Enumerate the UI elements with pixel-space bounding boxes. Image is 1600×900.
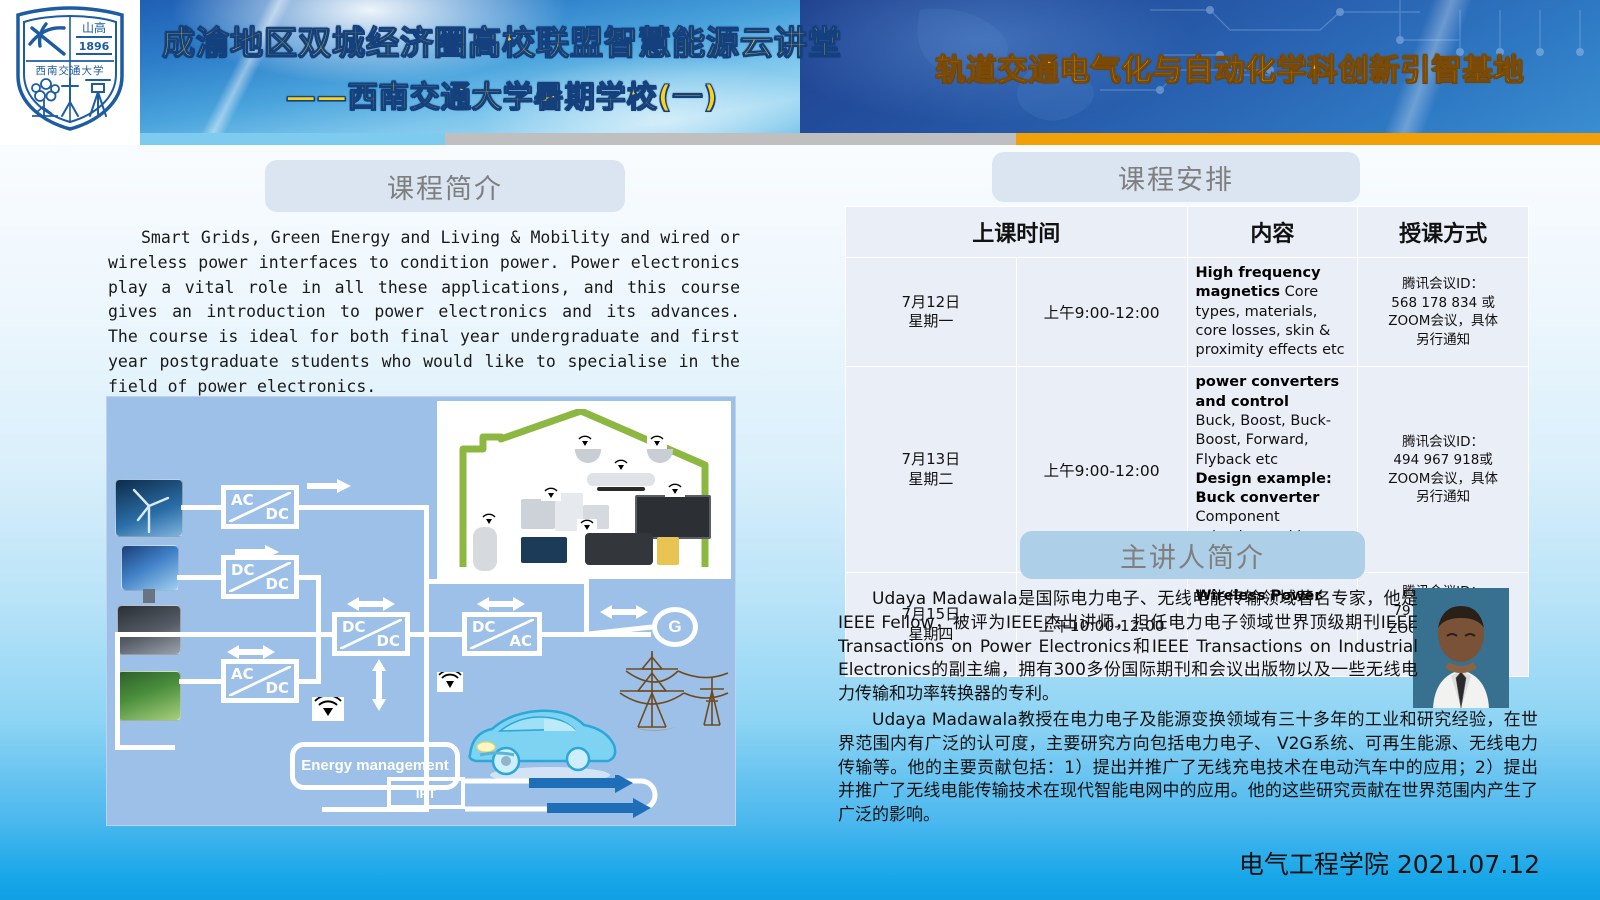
svg-text:西南交通大学: 西南交通大学 bbox=[36, 64, 105, 77]
flow-arrow-vertical-icon bbox=[372, 659, 386, 711]
strip-segment-blue bbox=[140, 133, 445, 145]
column-header-mode: 授课方式 bbox=[1358, 207, 1529, 258]
table-row: 7月12日 星期一 上午9:00-12:00 High frequency ma… bbox=[846, 258, 1529, 367]
converter-block-dc-dc-2: DC DC bbox=[332, 612, 410, 656]
appliance-monitor bbox=[521, 537, 567, 563]
wire-segment bbox=[179, 679, 223, 684]
cell-date: 7月12日 星期一 bbox=[846, 258, 1017, 367]
poster-footer: 电气工程学院 2021.07.12 bbox=[840, 845, 1540, 881]
source-battery-image bbox=[117, 605, 181, 655]
wire-segment bbox=[257, 632, 332, 637]
poster-header: 山高 1896 西南交通大学 成渝地区双城经 bbox=[0, 0, 1600, 133]
cell-date-weekday: 星期二 bbox=[854, 470, 1008, 490]
wire-segment bbox=[424, 505, 429, 635]
wind-turbine-icon bbox=[116, 480, 182, 536]
header-title-main: 成渝地区双城经济圈高校联盟智慧能源云讲堂 bbox=[142, 26, 862, 61]
table-header-row: 上课时间 内容 授课方式 bbox=[846, 207, 1529, 258]
smart-home-panel bbox=[437, 401, 731, 579]
wire-segment bbox=[177, 575, 223, 580]
converter-block-dc-ac: DC AC bbox=[462, 612, 542, 656]
wire-segment bbox=[407, 632, 467, 637]
wire-segment bbox=[424, 579, 589, 584]
converter-label-bottom: DC bbox=[266, 505, 289, 523]
speaker-bio-paragraph-1: Udaya Madawala是国际电力电子、无线电能传输领域著名专家，他是IEE… bbox=[838, 588, 1418, 707]
converter-label-bottom: DC bbox=[377, 632, 400, 650]
ipt-power-transfer-arrows-icon bbox=[465, 775, 665, 821]
appliance-washer bbox=[521, 499, 555, 529]
wire-segment bbox=[115, 632, 260, 637]
source-generator-image bbox=[117, 671, 181, 721]
converter-label-bottom: DC bbox=[266, 679, 289, 697]
wifi-icon bbox=[665, 483, 685, 497]
wifi-icon bbox=[575, 435, 595, 449]
flow-arrow-bidirectional-icon bbox=[477, 597, 525, 611]
wifi-icon bbox=[647, 435, 667, 449]
wire-segment bbox=[115, 632, 120, 750]
wire-segment bbox=[541, 632, 651, 637]
svg-text:山高: 山高 bbox=[82, 20, 106, 35]
flow-arrow-bidirectional-icon bbox=[600, 605, 648, 619]
converter-block-dc-dc-1: DC DC bbox=[221, 555, 299, 599]
cell-time: 上午9:00-12:00 bbox=[1016, 258, 1187, 367]
cell-date: 7月13日 星期二 bbox=[846, 367, 1017, 573]
section-heading-speaker: 主讲人简介 bbox=[1020, 531, 1365, 579]
column-header-content: 内容 bbox=[1187, 207, 1358, 258]
cell-topic: High frequency magnetics Core types, mat… bbox=[1187, 258, 1358, 367]
cell-mode: 腾讯会议ID： 568 178 834 或 ZOOM会议，具体 另行通知 bbox=[1358, 258, 1529, 367]
source-wind-turbine-image bbox=[115, 479, 183, 537]
course-intro-body: Smart Grids, Green Energy and Living & M… bbox=[108, 226, 740, 399]
svg-text:1896: 1896 bbox=[79, 40, 110, 53]
strip-segment-orange bbox=[1016, 133, 1600, 145]
converter-label-bottom: AC bbox=[509, 632, 532, 650]
wire-segment bbox=[181, 505, 223, 510]
cell-mode: 腾讯会议ID： 494 967 918或 ZOOM会议，具体 另行通知 bbox=[1358, 367, 1529, 573]
header-title-right: 轨道交通电气化与自动化学科创新引智基地 bbox=[860, 55, 1600, 87]
cell-topic-bold-2: Design example: Buck converter bbox=[1196, 471, 1332, 506]
solar-panel-stand bbox=[143, 589, 155, 603]
wifi-icon bbox=[541, 487, 561, 501]
poster-canvas: 山高 1896 西南交通大学 成渝地区双城经 bbox=[0, 0, 1600, 900]
wifi-icon bbox=[577, 519, 597, 533]
appliance-water-heater bbox=[473, 527, 497, 571]
ipt-block-label: IPT bbox=[387, 777, 465, 809]
column-header-time: 上课时间 bbox=[846, 207, 1188, 258]
header-title-sub: ——西南交通大学暑期学校(一) bbox=[142, 82, 862, 114]
appliance-ac-vent bbox=[597, 487, 645, 491]
section-heading-schedule: 课程安排 bbox=[992, 152, 1360, 202]
speaker-bio: Udaya Madawala是国际电力电子、无线电能传输领域著名专家，他是IEE… bbox=[838, 588, 1538, 828]
southwest-jiaotong-university-crest-icon: 山高 1896 西南交通大学 bbox=[6, 4, 134, 132]
strip-segment-gray bbox=[445, 133, 1016, 145]
appliance-air-conditioner bbox=[587, 473, 655, 486]
generator-symbol: G bbox=[652, 607, 698, 647]
converter-block-ac-dc-2: AC DC bbox=[221, 659, 299, 703]
wire-segment bbox=[316, 632, 321, 684]
appliance-cabinet bbox=[657, 537, 679, 565]
cell-topic-rest: Buck, Boost, Buck-Boost, Forward, Flybac… bbox=[1196, 412, 1350, 470]
section-heading-course-intro: 课程简介 bbox=[265, 160, 625, 212]
wifi-icon bbox=[437, 672, 463, 692]
transmission-tower-icon bbox=[612, 647, 730, 739]
appliance-tablet bbox=[585, 533, 653, 565]
speaker-bio-paragraph-2: Udaya Madawala教授在电力电子及能源变换领域有三十多年的工业和研究经… bbox=[838, 709, 1538, 828]
wire-segment bbox=[316, 575, 321, 635]
converter-label-bottom: DC bbox=[266, 575, 289, 593]
wire-segment bbox=[584, 579, 589, 635]
wifi-icon bbox=[312, 697, 344, 721]
flow-arrow-right-icon bbox=[307, 479, 351, 493]
wifi-icon bbox=[611, 459, 631, 473]
cell-date-weekday: 星期一 bbox=[854, 312, 1008, 332]
strip-segment-white bbox=[0, 133, 140, 145]
smart-grid-power-electronics-diagram: AC DC DC DC AC DC DC DC DC AC bbox=[106, 396, 736, 826]
header-accent-strip bbox=[0, 133, 1600, 145]
wire-segment bbox=[299, 505, 429, 510]
cell-topic-bold: power converters and control bbox=[1196, 374, 1340, 409]
flow-arrow-bidirectional-icon bbox=[347, 597, 395, 611]
source-solar-panel-image bbox=[121, 545, 179, 591]
electric-vehicle-icon bbox=[462, 689, 622, 785]
wifi-icon bbox=[479, 513, 499, 527]
converter-block-ac-dc: AC DC bbox=[221, 485, 299, 529]
flow-arrow-bidirectional-icon bbox=[227, 645, 275, 659]
wire-segment bbox=[115, 745, 175, 750]
cell-date-day: 7月12日 bbox=[854, 293, 1008, 313]
cell-date-day: 7月13日 bbox=[854, 450, 1008, 470]
flow-arrow-right-icon bbox=[235, 545, 279, 559]
